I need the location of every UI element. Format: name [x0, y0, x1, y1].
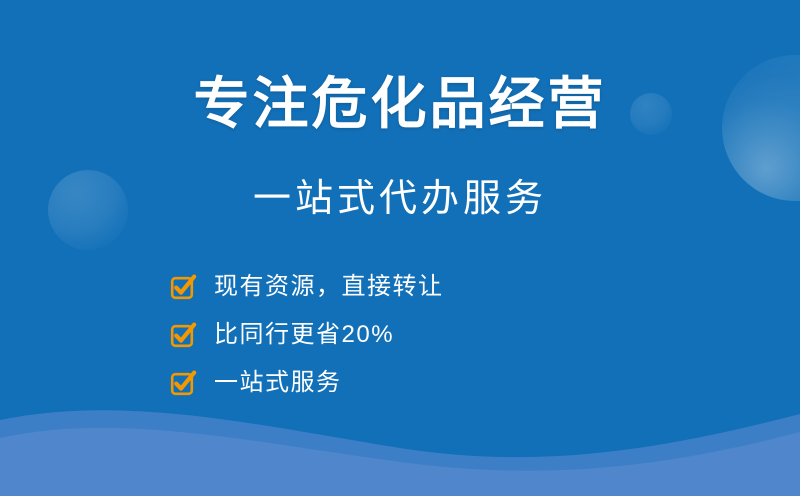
banner-headline: 专注危化品经营 [0, 76, 800, 132]
feature-item: 现有资源，直接转让 [170, 272, 444, 302]
feature-label: 比同行更省20% [214, 323, 394, 347]
feature-list: 现有资源，直接转让 比同行更省20% 一站式服务 [170, 272, 444, 398]
checkbox-checked-icon [170, 370, 196, 396]
feature-label: 一站式服务 [214, 371, 342, 395]
banner-content: 专注危化品经营 一站式代办服务 现有资源，直接转让 比同行更省20% [0, 0, 800, 496]
checkbox-checked-icon [170, 322, 196, 348]
banner-subheadline: 一站式代办服务 [0, 180, 800, 218]
promotional-banner: 专注危化品经营 一站式代办服务 现有资源，直接转让 比同行更省20% [0, 0, 800, 496]
checkbox-checked-icon [170, 274, 196, 300]
feature-item: 比同行更省20% [170, 320, 444, 350]
feature-label: 现有资源，直接转让 [214, 275, 444, 299]
feature-item: 一站式服务 [170, 368, 444, 398]
